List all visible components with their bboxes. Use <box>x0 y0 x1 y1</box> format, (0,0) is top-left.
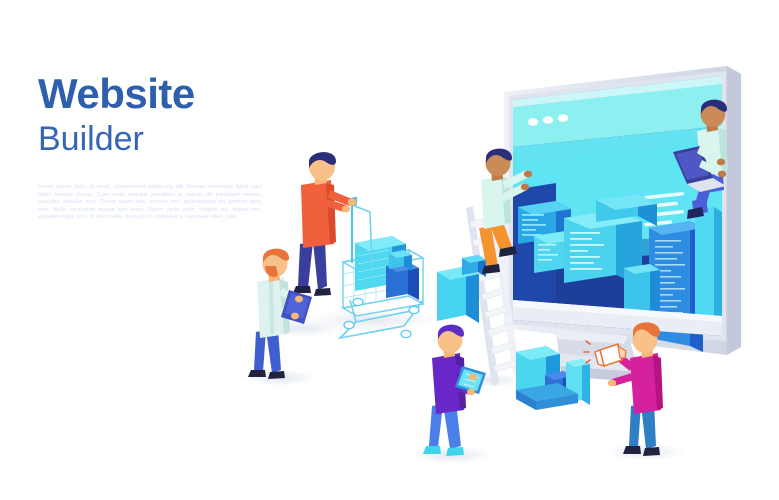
ground-shadows <box>245 309 686 464</box>
monitor-stand <box>536 330 640 382</box>
body-paragraph: Lorem ipsum dolor sit amet, consectetuer… <box>38 160 262 222</box>
content-block-upper-right <box>596 194 657 226</box>
shopping-cart <box>340 198 423 338</box>
character-megaphone <box>584 322 663 456</box>
monitor-screen <box>504 66 741 355</box>
browser-dots[interactable] <box>528 114 568 126</box>
content-block-a <box>518 201 571 246</box>
page-title-line2: Builder <box>38 116 270 160</box>
ladder <box>466 194 520 386</box>
block-cluster <box>516 346 590 410</box>
browser-titlebar <box>513 76 722 181</box>
page-root: Website Builder Lorem ipsum dolor sit am… <box>0 0 779 500</box>
character-ladder-climber <box>479 149 532 274</box>
content-block-center <box>564 210 642 286</box>
content-block-lower <box>624 264 660 316</box>
character-cart-pusher <box>293 152 356 296</box>
page-title-line1: Website <box>38 72 270 116</box>
hero-text-block: Website Builder Lorem ipsum dolor sit am… <box>38 72 270 222</box>
content-block-b <box>534 231 580 276</box>
character-tablet-user <box>423 325 486 456</box>
screen-hero-band <box>513 140 722 262</box>
screen-text-lines <box>644 192 684 227</box>
content-blocks <box>513 183 722 352</box>
character-clipboard <box>248 249 312 379</box>
floating-cube <box>437 255 486 323</box>
code-panel-right-1 <box>649 221 703 352</box>
cart-goods <box>355 236 419 300</box>
code-panel-right-2 <box>695 207 722 335</box>
character-laptop-sitter <box>673 100 728 219</box>
